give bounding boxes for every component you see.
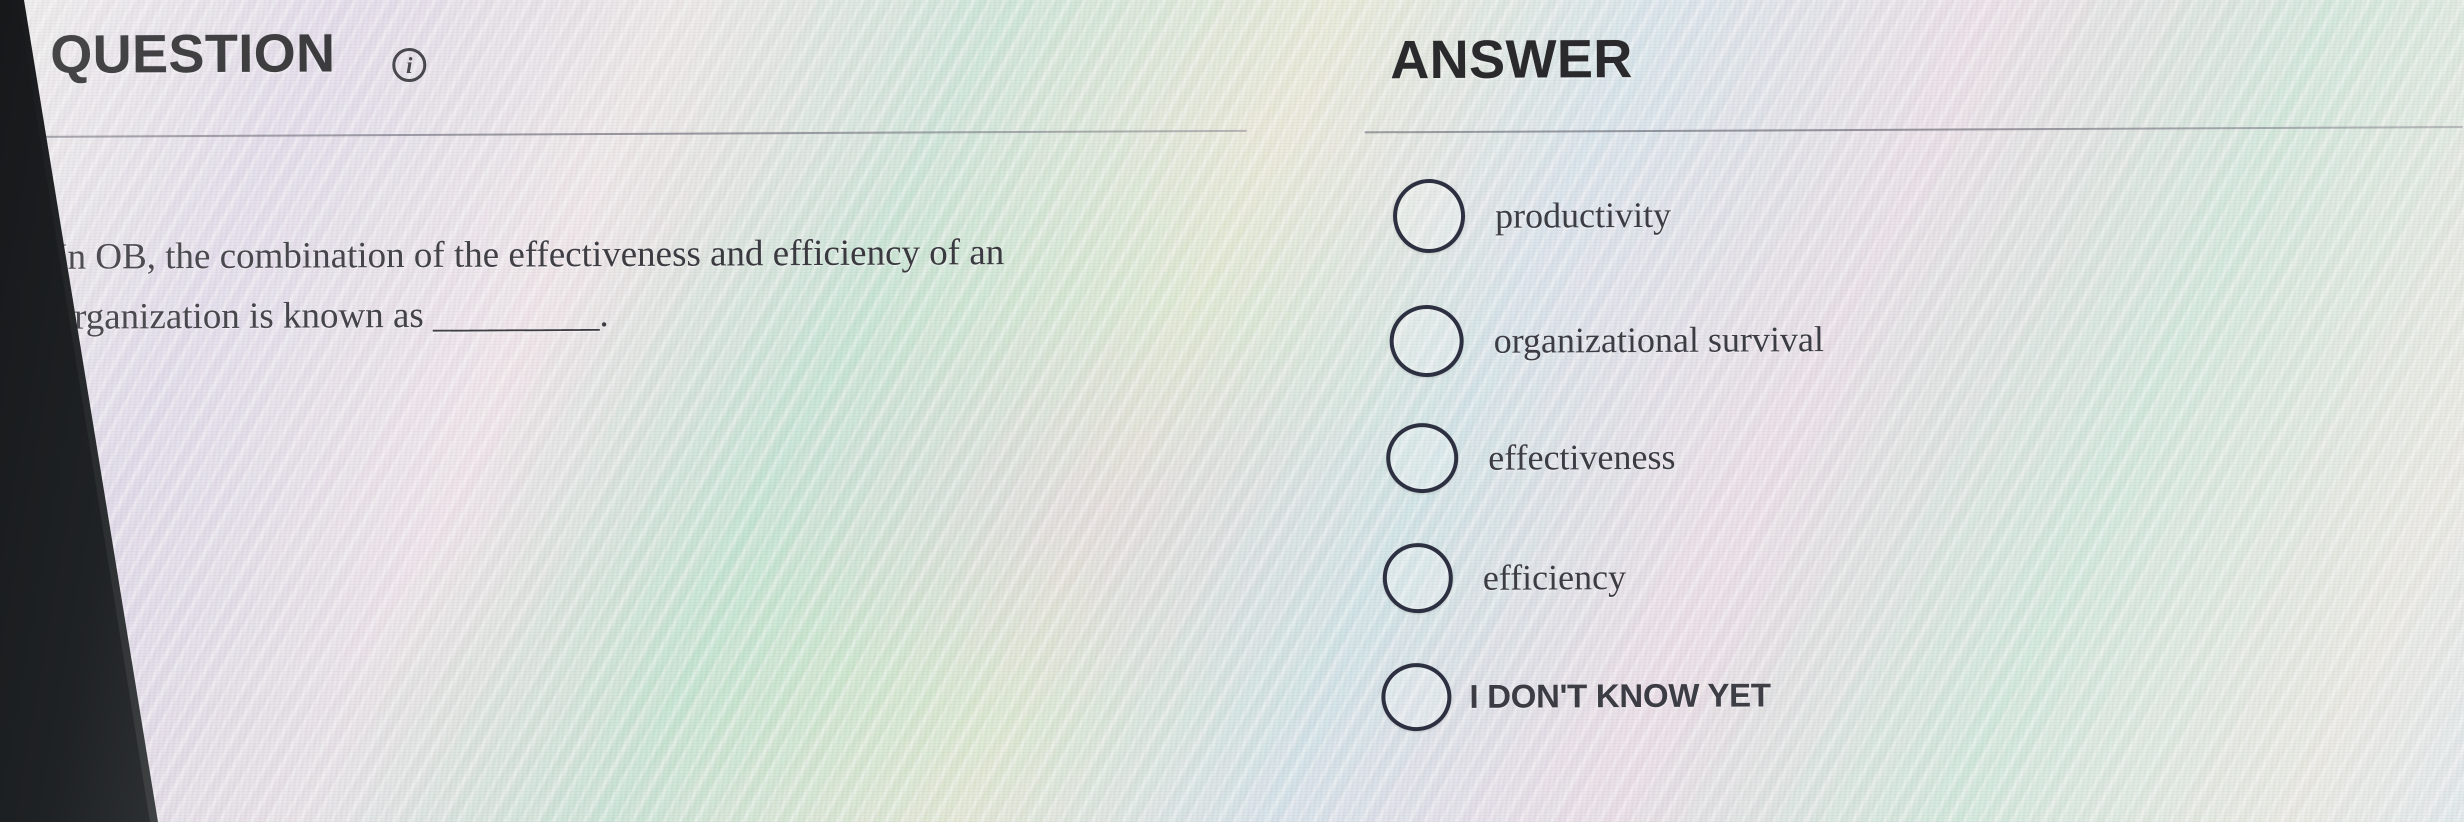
answer-option-label: organizational survival: [1494, 318, 1824, 362]
answer-heading: ANSWER: [1390, 28, 1633, 91]
radio-button-icon[interactable]: [1393, 179, 1465, 253]
answer-option-label: productivity: [1495, 194, 1671, 237]
answer-option-organizational-survival[interactable]: organizational survival: [1389, 303, 1824, 377]
answer-option-label: effectiveness: [1488, 436, 1675, 479]
quiz-content: QUESTION i In OB, the combination of the…: [0, 0, 2464, 822]
question-divider: [33, 130, 1247, 138]
answer-options-list: productivity organizational survival eff…: [1379, 174, 2379, 179]
info-icon[interactable]: i: [392, 48, 426, 82]
answer-option-i-dont-know-yet[interactable]: I DON'T KNOW YET: [1381, 661, 1771, 731]
radio-button-icon[interactable]: [1383, 543, 1453, 613]
screen-photo: QUESTION i In OB, the combination of the…: [0, 0, 2464, 822]
radio-button-icon[interactable]: [1389, 305, 1463, 377]
question-text: In OB, the combination of the effectiven…: [55, 223, 1106, 348]
answer-option-productivity[interactable]: productivity: [1393, 178, 1671, 253]
answer-option-label: I DON'T KNOW YET: [1469, 676, 1770, 715]
answer-option-label: efficiency: [1483, 556, 1626, 599]
radio-button-icon[interactable]: [1386, 423, 1458, 493]
question-heading: QUESTION: [50, 22, 336, 85]
answer-option-efficiency[interactable]: efficiency: [1383, 542, 1627, 613]
radio-button-icon[interactable]: [1381, 663, 1451, 731]
answer-divider: [1365, 126, 2463, 133]
answer-option-effectiveness[interactable]: effectiveness: [1386, 422, 1676, 493]
